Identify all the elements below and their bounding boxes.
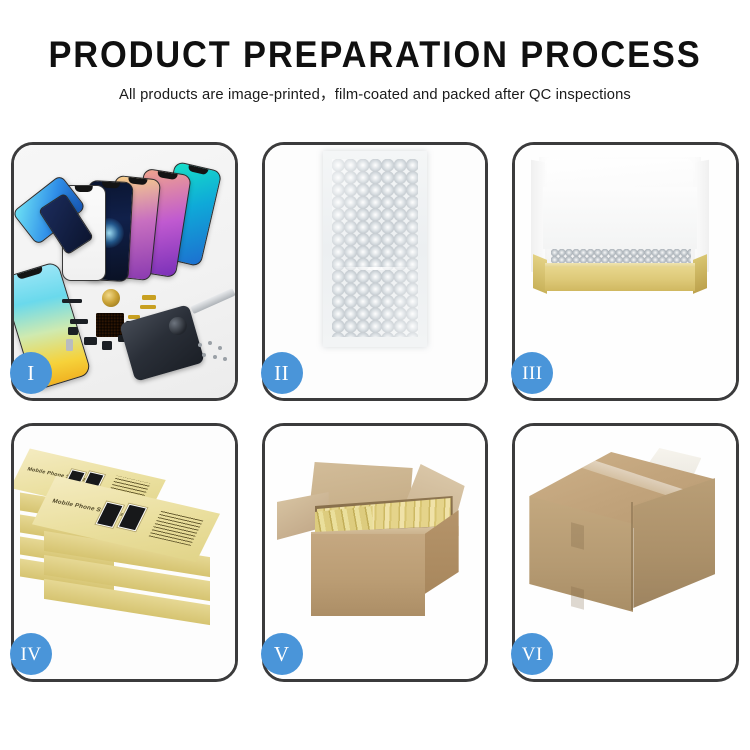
process-step-panel-4[interactable]: Mobile Phone Spare Parts Mobile Phone Sp…	[11, 423, 238, 682]
part-flex-connector	[142, 295, 156, 300]
process-step-panel-1[interactable]: I	[11, 142, 238, 401]
mailer-box-right-side	[693, 254, 707, 294]
part-sim-tray	[66, 339, 73, 351]
phone-notch	[157, 171, 178, 180]
step-badge-4: IV	[10, 633, 52, 675]
page-title: PRODUCT PREPARATION PROCESS	[26, 0, 724, 77]
part-volume-flex	[140, 305, 156, 309]
header: PRODUCT PREPARATION PROCESS All products…	[0, 0, 750, 128]
mailer-box-front-wall	[545, 267, 695, 291]
bubble-wrap-sheen	[332, 159, 418, 337]
screws-group	[196, 341, 230, 363]
part-earpiece-mesh	[62, 299, 82, 303]
process-step-panel-6[interactable]: VI	[512, 423, 739, 682]
foam-insert	[543, 187, 697, 249]
carton-seam-upper	[571, 522, 584, 549]
open-shipping-carton	[275, 448, 465, 626]
part-logic-board-chip	[96, 313, 124, 337]
retail-box-spec-lines	[149, 509, 204, 546]
bubble-wrap-seal-seam	[334, 267, 416, 270]
page-subtitle: All products are image-printed，film-coat…	[11, 77, 739, 105]
step-badge-5: V	[261, 633, 303, 675]
part-taptic-engine	[84, 337, 97, 345]
process-step-panel-5[interactable]: V	[262, 423, 489, 682]
step-badge-2: II	[261, 352, 303, 394]
part-flex-cable-a	[70, 319, 88, 324]
process-step-grid: I II III	[11, 142, 739, 682]
sealed-shipping-carton	[529, 452, 715, 622]
part-speaker-coil	[102, 289, 120, 307]
process-step-panel-3[interactable]: III	[512, 142, 739, 401]
phone-notch	[75, 186, 93, 192]
part-camera-module	[68, 327, 78, 335]
step-badge-1: I	[10, 352, 52, 394]
part-vibrator	[102, 341, 112, 350]
phone-notch	[101, 182, 120, 189]
process-step-panel-2[interactable]: II	[262, 142, 489, 401]
carton-front-wall	[311, 534, 425, 616]
carton-vertical-edge	[631, 502, 633, 610]
carton-seam-lower	[571, 586, 584, 609]
retail-box-stack: Mobile Phone Spare Parts Mobile Phone Sp…	[20, 444, 220, 628]
